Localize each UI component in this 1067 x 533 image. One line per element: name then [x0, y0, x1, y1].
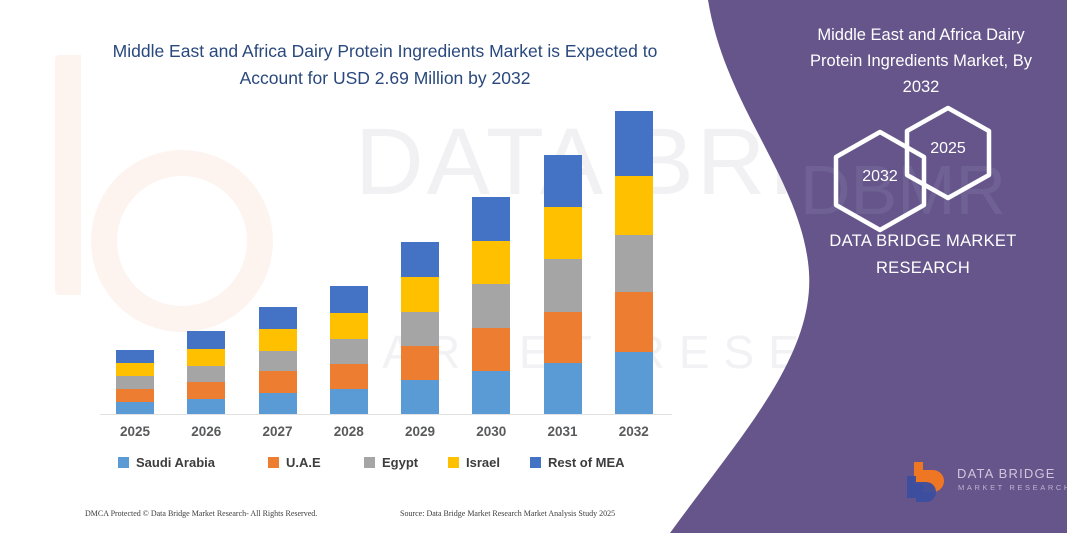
bar-segment[interactable]	[187, 382, 225, 398]
legend-label: U.A.E	[286, 455, 321, 470]
bar-segment[interactable]	[615, 235, 653, 292]
bar-group-2029	[385, 242, 455, 415]
x-axis-tick-2031: 2031	[528, 424, 598, 439]
bar-segment[interactable]	[187, 366, 225, 382]
bar-segment[interactable]	[472, 328, 510, 372]
logo-title: DATA BRIDGE	[957, 466, 1056, 481]
stacked-bar[interactable]	[401, 242, 439, 415]
bar-segment[interactable]	[259, 307, 297, 329]
bar-segment[interactable]	[259, 351, 297, 372]
bar-segment[interactable]	[116, 402, 154, 415]
infographic-canvas: DATA BRI MARKET RESEARCH Middle East and…	[0, 0, 1067, 533]
legend-label: Rest of MEA	[548, 455, 625, 470]
x-axis-tick-2029: 2029	[385, 424, 455, 439]
stacked-bar[interactable]	[472, 197, 510, 415]
legend-swatch-icon	[118, 457, 129, 468]
logo-subtitle: MARKET RESEARCH	[958, 483, 1067, 492]
stacked-bar[interactable]	[259, 307, 297, 415]
stacked-bar[interactable]	[544, 155, 582, 415]
bar-segment[interactable]	[116, 363, 154, 376]
bar-segment[interactable]	[472, 241, 510, 285]
bar-segment[interactable]	[544, 207, 582, 259]
bar-segment[interactable]	[330, 389, 368, 415]
bar-segment[interactable]	[472, 284, 510, 328]
legend-label: Saudi Arabia	[136, 455, 215, 470]
x-axis-labels: 20252026202720282029203020312032	[100, 424, 670, 446]
stacked-bar-chart	[100, 110, 670, 415]
bar-segment[interactable]	[615, 352, 653, 415]
x-axis-tick-2026: 2026	[171, 424, 241, 439]
bar-segment[interactable]	[472, 371, 510, 415]
bar-group-2026	[171, 331, 241, 415]
stacked-bar[interactable]	[330, 286, 368, 415]
legend-item-israel[interactable]: Israel	[448, 455, 500, 470]
bar-segment[interactable]	[544, 363, 582, 415]
bar-segment[interactable]	[615, 292, 653, 352]
bar-group-2028	[314, 286, 384, 415]
logo-b-mark-icon	[905, 458, 955, 506]
legend-swatch-icon	[364, 457, 375, 468]
x-axis-tick-2027: 2027	[243, 424, 313, 439]
bar-group-2031	[528, 155, 598, 415]
bar-segment[interactable]	[401, 380, 439, 415]
bar-segment[interactable]	[544, 312, 582, 363]
bar-segment[interactable]	[187, 349, 225, 366]
bar-segment[interactable]	[544, 259, 582, 311]
bar-segment[interactable]	[401, 346, 439, 380]
legend-item-saudi-arabia[interactable]: Saudi Arabia	[118, 455, 215, 470]
bar-segment[interactable]	[116, 376, 154, 389]
bar-segment[interactable]	[330, 339, 368, 364]
bar-segment[interactable]	[259, 371, 297, 393]
x-axis-tick-2028: 2028	[314, 424, 384, 439]
bar-segment[interactable]	[615, 176, 653, 235]
legend-item-u-a-e[interactable]: U.A.E	[268, 455, 321, 470]
x-axis-tick-2025: 2025	[100, 424, 170, 439]
legend-item-rest-of-mea[interactable]: Rest of MEA	[530, 455, 625, 470]
bar-group-2027	[243, 307, 313, 415]
panel-brand-name: DATA BRIDGE MARKET RESEARCH	[798, 228, 1048, 282]
bar-segment[interactable]	[401, 242, 439, 277]
bar-segment[interactable]	[116, 389, 154, 402]
legend-swatch-icon	[268, 457, 279, 468]
bar-segment[interactable]	[116, 350, 154, 363]
bar-group-2025	[100, 350, 170, 415]
legend-item-egypt[interactable]: Egypt	[364, 455, 418, 470]
bar-segment[interactable]	[330, 313, 368, 339]
stacked-bar[interactable]	[187, 331, 225, 415]
bar-segment[interactable]	[187, 331, 225, 348]
legend-swatch-icon	[530, 457, 541, 468]
footer-source: Source: Data Bridge Market Research Mark…	[400, 509, 615, 518]
panel-title: Middle East and Africa Dairy Protein Ing…	[790, 22, 1052, 100]
chart-legend: Saudi ArabiaU.A.EEgyptIsraelRest of MEA	[118, 455, 678, 475]
footer-copyright: DMCA Protected © Data Bridge Market Rese…	[85, 509, 317, 518]
legend-swatch-icon	[448, 457, 459, 468]
right-panel: DBMR Middle East and Africa Dairy Protei…	[650, 0, 1067, 533]
stacked-bar[interactable]	[615, 111, 653, 415]
chart-title: Middle East and Africa Dairy Protein Ing…	[85, 38, 685, 92]
bar-group-2030	[456, 197, 526, 415]
bar-segment[interactable]	[259, 393, 297, 415]
bar-segment[interactable]	[401, 277, 439, 312]
bar-segment[interactable]	[615, 111, 653, 176]
chart-baseline	[100, 414, 672, 415]
bar-segment[interactable]	[401, 312, 439, 347]
hexagon-2025-label: 2025	[903, 140, 993, 158]
bar-segment[interactable]	[330, 286, 368, 312]
bar-segment[interactable]	[330, 364, 368, 389]
data-bridge-logo: DATA BRIDGE MARKET RESEARCH	[905, 458, 1055, 510]
bar-segment[interactable]	[472, 197, 510, 241]
bar-segment[interactable]	[259, 329, 297, 351]
bar-segment[interactable]	[544, 155, 582, 207]
stacked-bar[interactable]	[116, 350, 154, 415]
legend-label: Egypt	[382, 455, 418, 470]
bar-segment[interactable]	[187, 399, 225, 415]
legend-label: Israel	[466, 455, 500, 470]
x-axis-tick-2030: 2030	[456, 424, 526, 439]
